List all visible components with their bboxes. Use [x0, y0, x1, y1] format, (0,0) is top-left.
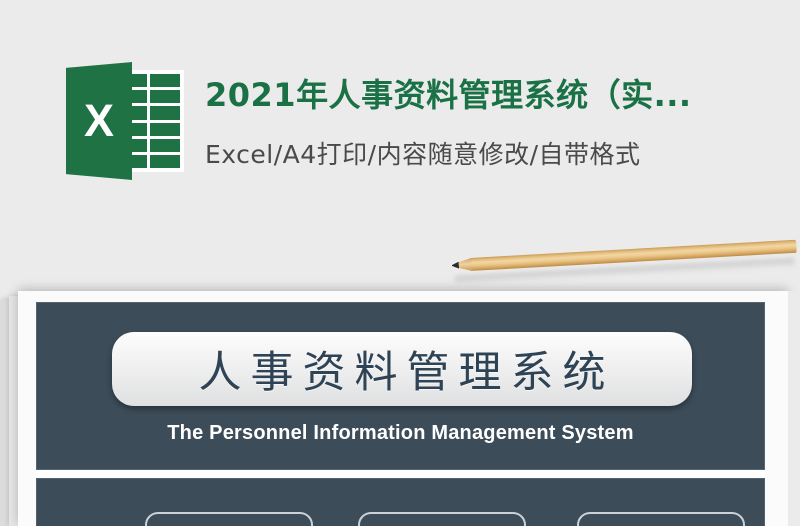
page-subtitle: Excel/A4打印/内容随意修改/自带格式 [205, 135, 641, 171]
document-title-plate: 人事资料管理系统 [112, 332, 692, 406]
nav-button-3[interactable] [577, 512, 745, 526]
nav-button-1[interactable] [145, 512, 313, 526]
pencil-tip-lead [452, 262, 459, 269]
excel-green-panel: X [66, 62, 132, 180]
excel-x-letter: X [66, 62, 132, 180]
panel-separator [36, 470, 765, 478]
document-nav-panel [36, 478, 765, 526]
document-header-panel: 人事资料管理系统 The Personnel Information Manag… [36, 302, 765, 470]
document-english-subtitle: The Personnel Information Management Sys… [36, 422, 765, 445]
nav-button-2[interactable] [358, 512, 526, 526]
page-right-margin [788, 291, 800, 526]
header-area: X 2021年人事资料管理系统（实... Excel/A4打印/内容随意修改/自… [0, 0, 800, 250]
document-main-title: 人事资料管理系统 [190, 338, 615, 400]
excel-file-icon: X [66, 62, 184, 180]
page-title: 2021年人事资料管理系统（实... [205, 70, 692, 116]
